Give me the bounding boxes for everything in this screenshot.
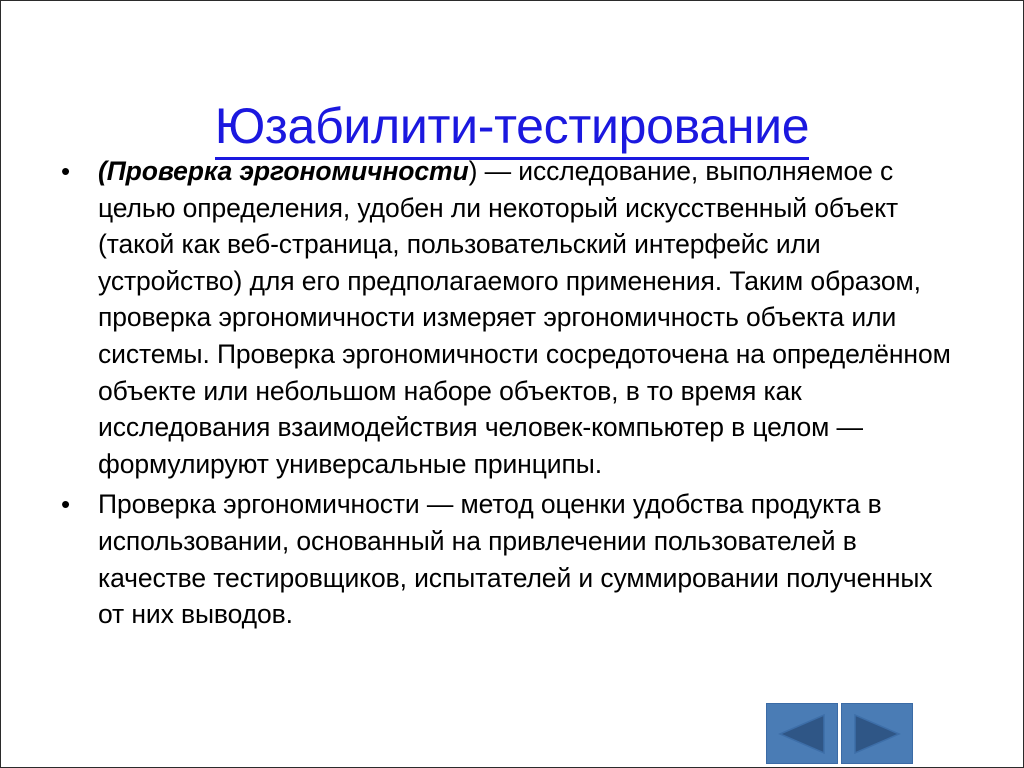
bullet-paragraph: Проверка эргономичности — метод оценки у… [98,486,958,632]
page-title: Юзабилити-тестирование [1,97,1023,159]
bullet-emphasis: (Проверка эргономичности [98,156,469,186]
slide-navigation [766,703,913,764]
list-item: • (Проверка эргономичности) — исследован… [53,153,958,482]
presentation-slide: Юзабилити-тестирование • (Проверка эргон… [0,0,1024,768]
page-title-text: Юзабилити-тестирование [215,97,810,160]
bullet-marker: • [61,153,81,190]
bullet-body: ) — исследование, выполняемое с целью оп… [98,156,951,479]
slide-body: • (Проверка эргономичности) — исследован… [53,153,958,637]
bullet-marker: • [61,486,81,523]
bullet-body: Проверка эргономичности — метод оценки у… [98,489,932,629]
next-slide-button[interactable] [841,703,913,764]
bullet-list: • (Проверка эргономичности) — исследован… [53,153,958,633]
list-item: • Проверка эргономичности — метод оценки… [53,486,958,632]
bullet-paragraph: (Проверка эргономичности) — исследование… [98,153,958,482]
previous-slide-button[interactable] [766,703,838,764]
arrow-left-icon [776,713,828,755]
arrow-right-icon [851,713,903,755]
